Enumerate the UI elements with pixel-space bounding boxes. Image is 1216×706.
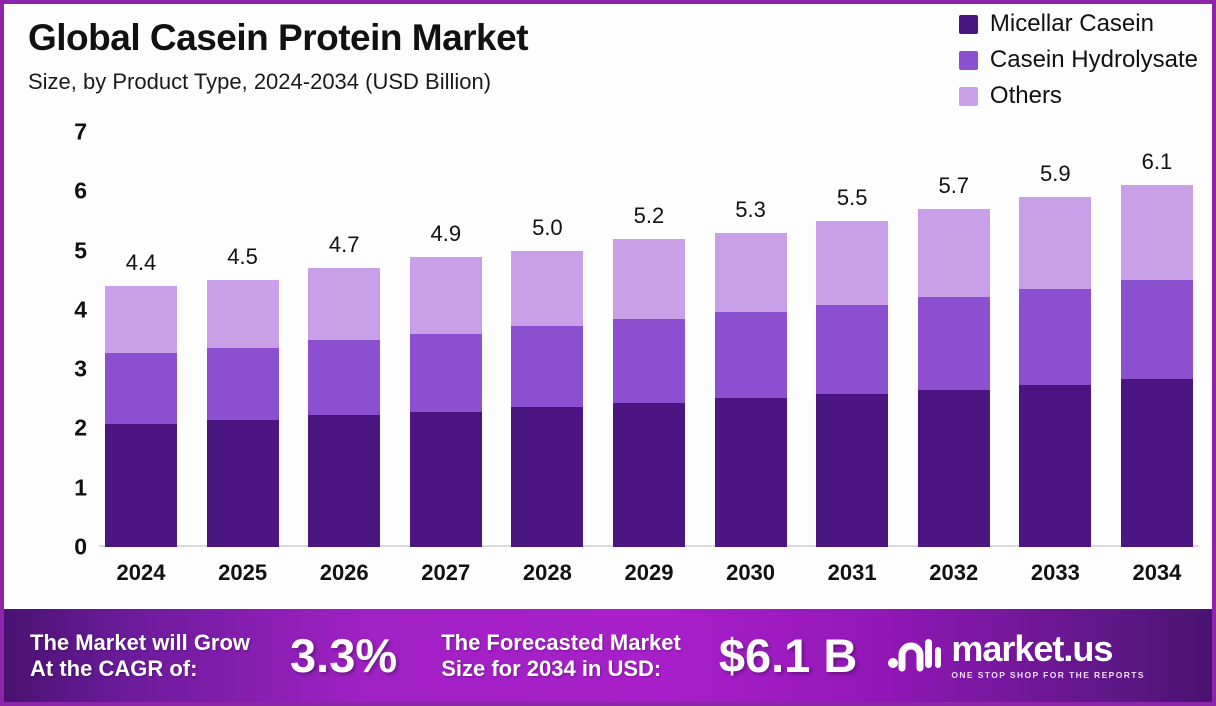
y-axis-tick-label: 1 <box>74 476 87 499</box>
x-axis-label: 2028 <box>523 560 572 586</box>
bar-segment[interactable] <box>918 390 990 547</box>
bar-total-label: 5.7 <box>938 173 969 199</box>
legend-swatch-icon <box>959 15 978 34</box>
bar-group[interactable]: 6.12034 <box>1121 132 1193 547</box>
y-axis-tick-label: 3 <box>74 358 87 381</box>
cagr-caption-line2: At the CAGR of: <box>30 656 250 682</box>
cagr-value: 3.3% <box>290 632 397 679</box>
bar-total-label: 5.0 <box>532 215 563 241</box>
bar-group[interactable]: 5.02028 <box>511 132 583 547</box>
forecast-caption-line1: The Forecasted Market <box>441 630 681 656</box>
x-axis-label: 2031 <box>828 560 877 586</box>
legend-item[interactable]: Casein Hydrolysate <box>959 46 1198 74</box>
bar-segment[interactable] <box>511 326 583 407</box>
bar-total-label: 5.5 <box>837 185 868 211</box>
y-axis-tick-label: 7 <box>74 121 87 144</box>
bar-total-label: 4.9 <box>430 221 461 247</box>
chart-legend: Micellar CaseinCasein HydrolysateOthers <box>959 10 1198 110</box>
bar-total-label: 5.9 <box>1040 161 1071 187</box>
legend-swatch-icon <box>959 87 978 106</box>
page-subtitle: Size, by Product Type, 2024-2034 (USD Bi… <box>28 69 528 95</box>
bar-segment[interactable] <box>1019 385 1091 547</box>
bar-segment[interactable] <box>816 394 888 547</box>
bar-segment[interactable] <box>207 348 279 420</box>
legend-item-label: Micellar Casein <box>990 10 1154 38</box>
legend-item[interactable]: Others <box>959 82 1062 110</box>
y-axis-tick-label: 0 <box>74 536 87 559</box>
bar-segment[interactable] <box>613 319 685 403</box>
chart-infographic: Global Casein Protein Market Size, by Pr… <box>0 0 1216 706</box>
x-axis-label: 2025 <box>218 560 267 586</box>
market-us-logo[interactable]: market.us ONE STOP SHOP FOR THE REPORTS <box>887 631 1145 680</box>
bar-segment[interactable] <box>918 297 990 390</box>
bar-segment[interactable] <box>105 424 177 547</box>
bar-segment[interactable] <box>308 268 380 340</box>
bar-total-label: 5.2 <box>634 203 665 229</box>
bar-total-label: 5.3 <box>735 197 766 223</box>
bar-group[interactable]: 5.32030 <box>715 132 787 547</box>
bar-group[interactable]: 4.42024 <box>105 132 177 547</box>
bar-segment[interactable] <box>410 412 482 547</box>
footer-banner: The Market will Grow At the CAGR of: 3.3… <box>4 609 1212 702</box>
x-axis-label: 2032 <box>929 560 978 586</box>
bar-total-label: 4.7 <box>329 232 360 258</box>
bar-segment[interactable] <box>918 209 990 297</box>
forecast-caption-line2: Size for 2034 in USD: <box>441 656 681 682</box>
bar-group[interactable]: 5.92033 <box>1019 132 1091 547</box>
bar-segment[interactable] <box>613 403 685 547</box>
legend-item-label: Others <box>990 82 1062 110</box>
x-axis-label: 2034 <box>1132 560 1181 586</box>
bar-group[interactable]: 4.72026 <box>308 132 380 547</box>
logo-tagline: ONE STOP SHOP FOR THE REPORTS <box>951 670 1145 680</box>
bar-segment[interactable] <box>613 239 685 320</box>
market-us-mark-icon <box>887 633 941 678</box>
bar-segment[interactable] <box>511 251 583 327</box>
page-title: Global Casein Protein Market <box>28 18 528 59</box>
x-axis-label: 2027 <box>421 560 470 586</box>
bar-segment[interactable] <box>308 415 380 547</box>
bar-segment[interactable] <box>410 257 482 335</box>
x-axis-label: 2026 <box>320 560 369 586</box>
x-axis-label: 2024 <box>117 560 166 586</box>
x-axis-label: 2033 <box>1031 560 1080 586</box>
logo-name: market.us <box>951 631 1145 667</box>
bar-segment[interactable] <box>105 353 177 424</box>
cagr-caption: The Market will Grow At the CAGR of: <box>30 630 250 682</box>
bar-segment[interactable] <box>207 280 279 348</box>
legend-swatch-icon <box>959 51 978 70</box>
x-axis-label: 2030 <box>726 560 775 586</box>
legend-item[interactable]: Micellar Casein <box>959 10 1154 38</box>
bar-group[interactable]: 5.72032 <box>918 132 990 547</box>
bar-segment[interactable] <box>410 334 482 412</box>
plot-area: 01234567 4.420244.520254.720264.920275.0… <box>99 132 1199 547</box>
bar-segment[interactable] <box>816 221 888 305</box>
legend-item-label: Casein Hydrolysate <box>990 46 1198 74</box>
bar-group[interactable]: 5.52031 <box>816 132 888 547</box>
x-axis-label: 2029 <box>624 560 673 586</box>
header: Global Casein Protein Market Size, by Pr… <box>28 18 528 95</box>
bar-total-label: 6.1 <box>1142 149 1173 175</box>
bar-segment[interactable] <box>207 420 279 547</box>
bar-series-container: 4.420244.520254.720264.920275.020285.220… <box>99 132 1199 547</box>
bar-segment[interactable] <box>511 407 583 547</box>
y-axis-tick-label: 5 <box>74 239 87 262</box>
forecast-value: $6.1 B <box>719 632 857 679</box>
cagr-caption-line1: The Market will Grow <box>30 630 250 656</box>
bar-segment[interactable] <box>1019 289 1091 384</box>
bar-segment[interactable] <box>715 233 787 312</box>
bar-segment[interactable] <box>816 305 888 394</box>
bar-total-label: 4.5 <box>227 244 258 270</box>
forecast-caption: The Forecasted Market Size for 2034 in U… <box>441 630 681 682</box>
bar-group[interactable]: 4.52025 <box>207 132 279 547</box>
y-axis-tick-label: 6 <box>74 180 87 203</box>
bar-segment[interactable] <box>715 312 787 399</box>
bar-segment[interactable] <box>105 286 177 352</box>
y-axis-tick-label: 4 <box>74 298 87 321</box>
y-axis-tick-label: 2 <box>74 417 87 440</box>
bar-segment[interactable] <box>1121 280 1193 379</box>
bar-segment[interactable] <box>1121 185 1193 279</box>
logo-text: market.us ONE STOP SHOP FOR THE REPORTS <box>951 631 1145 680</box>
bar-total-label: 4.4 <box>126 250 157 276</box>
bar-group[interactable]: 5.22029 <box>613 132 685 547</box>
bar-segment[interactable] <box>308 340 380 415</box>
bar-segment[interactable] <box>1019 197 1091 289</box>
bar-segment[interactable] <box>715 398 787 547</box>
bar-group[interactable]: 4.92027 <box>410 132 482 547</box>
bar-segment[interactable] <box>1121 379 1193 547</box>
